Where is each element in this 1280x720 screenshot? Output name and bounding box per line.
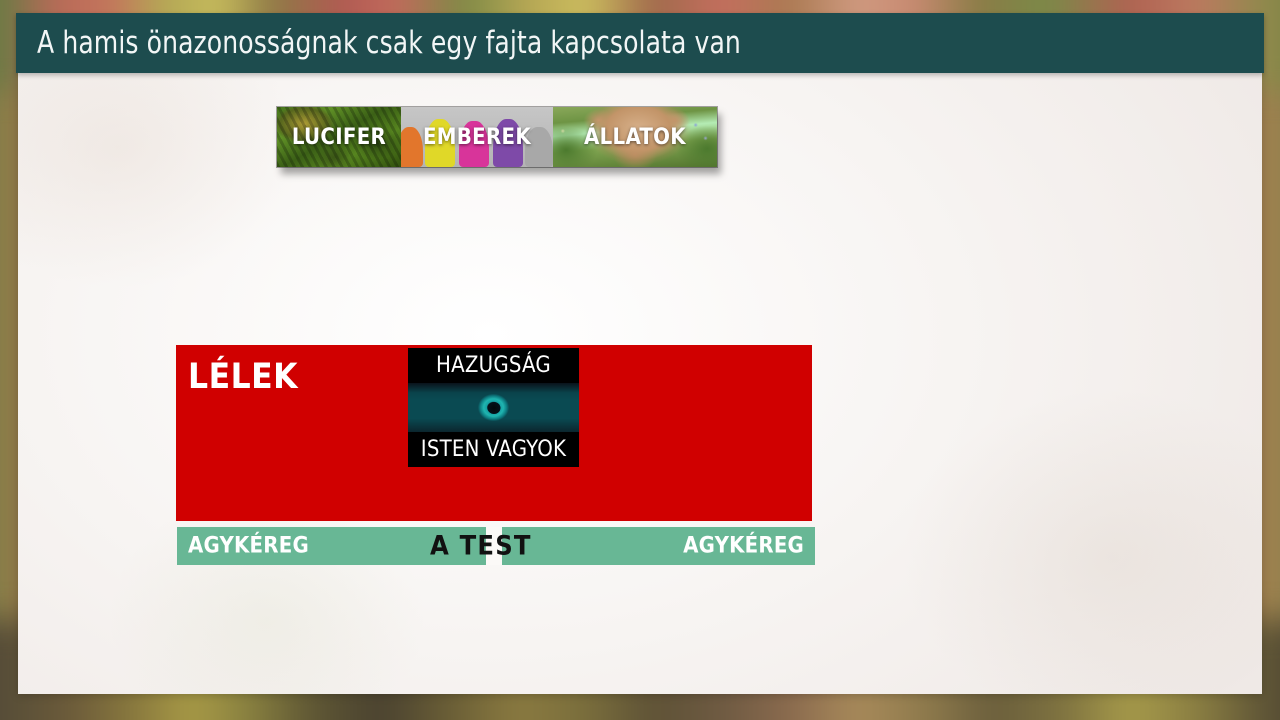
body-label: A TEST: [430, 531, 532, 562]
category-cell-emberek: EMBEREK: [401, 107, 553, 167]
category-label-emberek: EMBEREK: [423, 125, 531, 150]
colorful-eye-image: [408, 383, 579, 432]
slide-title-bar: A hamis önazonosságnak csak egy fajta ka…: [16, 13, 1264, 73]
category-cell-lucifer: LUCIFER: [277, 107, 401, 167]
slide-title: A hamis önazonosságnak csak egy fajta ka…: [37, 25, 741, 61]
cortex-label-right: AGYKÉREG: [683, 534, 804, 559]
slide-stage: A hamis önazonosságnak csak egy fajta ka…: [0, 0, 1280, 720]
lie-top-label: HAZUGSÁG: [408, 348, 579, 383]
body-bar: AGYKÉREG AGYKÉREG A TEST: [177, 527, 815, 565]
lie-bottom-label: ISTEN VAGYOK: [408, 432, 579, 467]
category-label-lucifer: LUCIFER: [292, 125, 386, 150]
soul-label: LÉLEK: [188, 360, 298, 395]
category-label-allatok: ÁLLATOK: [584, 125, 686, 150]
cortex-label-left: AGYKÉREG: [188, 534, 309, 559]
category-strip: LUCIFER EMBEREK ÁLLATOK: [277, 107, 717, 167]
lie-panel: HAZUGSÁG ISTEN VAGYOK: [408, 348, 579, 467]
category-cell-allatok: ÁLLATOK: [553, 107, 717, 167]
